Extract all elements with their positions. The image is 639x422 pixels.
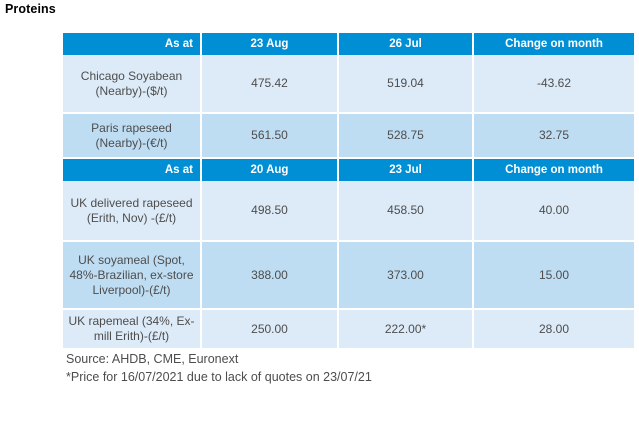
- row-value-uk-rapemeal-col1: 250.00: [201, 309, 338, 349]
- row-value-uk-soyameal-col2: 373.00: [338, 241, 473, 309]
- table-footer-source-row: Source: AHDB, CME, Euronext: [63, 349, 634, 368]
- row-value-uk-delivered-rapeseed-change: 40.00: [473, 181, 634, 241]
- source-note: Source: AHDB, CME, Euronext: [63, 349, 634, 368]
- row-value-chicago-soyabean-change: -43.62: [473, 55, 634, 113]
- header-cell-date-1: 23 Aug: [201, 33, 338, 55]
- row-value-paris-rapeseed-col2: 528.75: [338, 113, 473, 158]
- table-row: Paris rapeseed (Nearby)-(€/t) 561.50 528…: [63, 113, 634, 158]
- table-header-row-2: As at 20 Aug 23 Jul Change on month: [63, 158, 634, 181]
- table-header-row-1: As at 23 Aug 26 Jul Change on month: [63, 33, 634, 55]
- table-footer-footnote-row: *Price for 16/07/2021 due to lack of quo…: [63, 368, 634, 386]
- row-label-uk-delivered-rapeseed: UK delivered rapeseed (Erith, Nov) -(£/t…: [63, 181, 201, 241]
- row-label-uk-soyameal: UK soyameal (Spot, 48%-Brazilian, ex-sto…: [63, 241, 201, 309]
- proteins-price-table: As at 23 Aug 26 Jul Change on month Chic…: [63, 33, 634, 386]
- row-value-uk-soyameal-col1: 388.00: [201, 241, 338, 309]
- row-value-uk-delivered-rapeseed-col1: 498.50: [201, 181, 338, 241]
- row-label-uk-rapemeal: UK rapemeal (34%, Ex-mill Erith)-(£/t): [63, 309, 201, 349]
- row-value-uk-rapemeal-change: 28.00: [473, 309, 634, 349]
- row-value-uk-rapemeal-col2: 222.00*: [338, 309, 473, 349]
- price-footnote: *Price for 16/07/2021 due to lack of quo…: [63, 368, 634, 386]
- header-cell-date-2: 26 Jul: [338, 33, 473, 55]
- row-value-paris-rapeseed-change: 32.75: [473, 113, 634, 158]
- price-table-container: As at 23 Aug 26 Jul Change on month Chic…: [63, 33, 634, 386]
- header-cell-change-on-month: Change on month: [473, 33, 634, 55]
- header-cell-as-at-2: As at: [63, 158, 201, 181]
- header-cell-as-at: As at: [63, 33, 201, 55]
- row-value-chicago-soyabean-col2: 519.04: [338, 55, 473, 113]
- table-body: As at 23 Aug 26 Jul Change on month Chic…: [63, 33, 634, 386]
- row-value-chicago-soyabean-col1: 475.42: [201, 55, 338, 113]
- table-row: UK rapemeal (34%, Ex-mill Erith)-(£/t) 2…: [63, 309, 634, 349]
- row-value-paris-rapeseed-col1: 561.50: [201, 113, 338, 158]
- row-label-paris-rapeseed: Paris rapeseed (Nearby)-(€/t): [63, 113, 201, 158]
- page-title: Proteins: [5, 2, 56, 16]
- table-row: UK delivered rapeseed (Erith, Nov) -(£/t…: [63, 181, 634, 241]
- row-value-uk-delivered-rapeseed-col2: 458.50: [338, 181, 473, 241]
- table-row: Chicago Soyabean (Nearby)-($/t) 475.42 5…: [63, 55, 634, 113]
- row-value-uk-soyameal-change: 15.00: [473, 241, 634, 309]
- header-cell-change-on-month-2: Change on month: [473, 158, 634, 181]
- header-cell-date-4: 23 Jul: [338, 158, 473, 181]
- row-label-chicago-soyabean: Chicago Soyabean (Nearby)-($/t): [63, 55, 201, 113]
- table-row: UK soyameal (Spot, 48%-Brazilian, ex-sto…: [63, 241, 634, 309]
- header-cell-date-3: 20 Aug: [201, 158, 338, 181]
